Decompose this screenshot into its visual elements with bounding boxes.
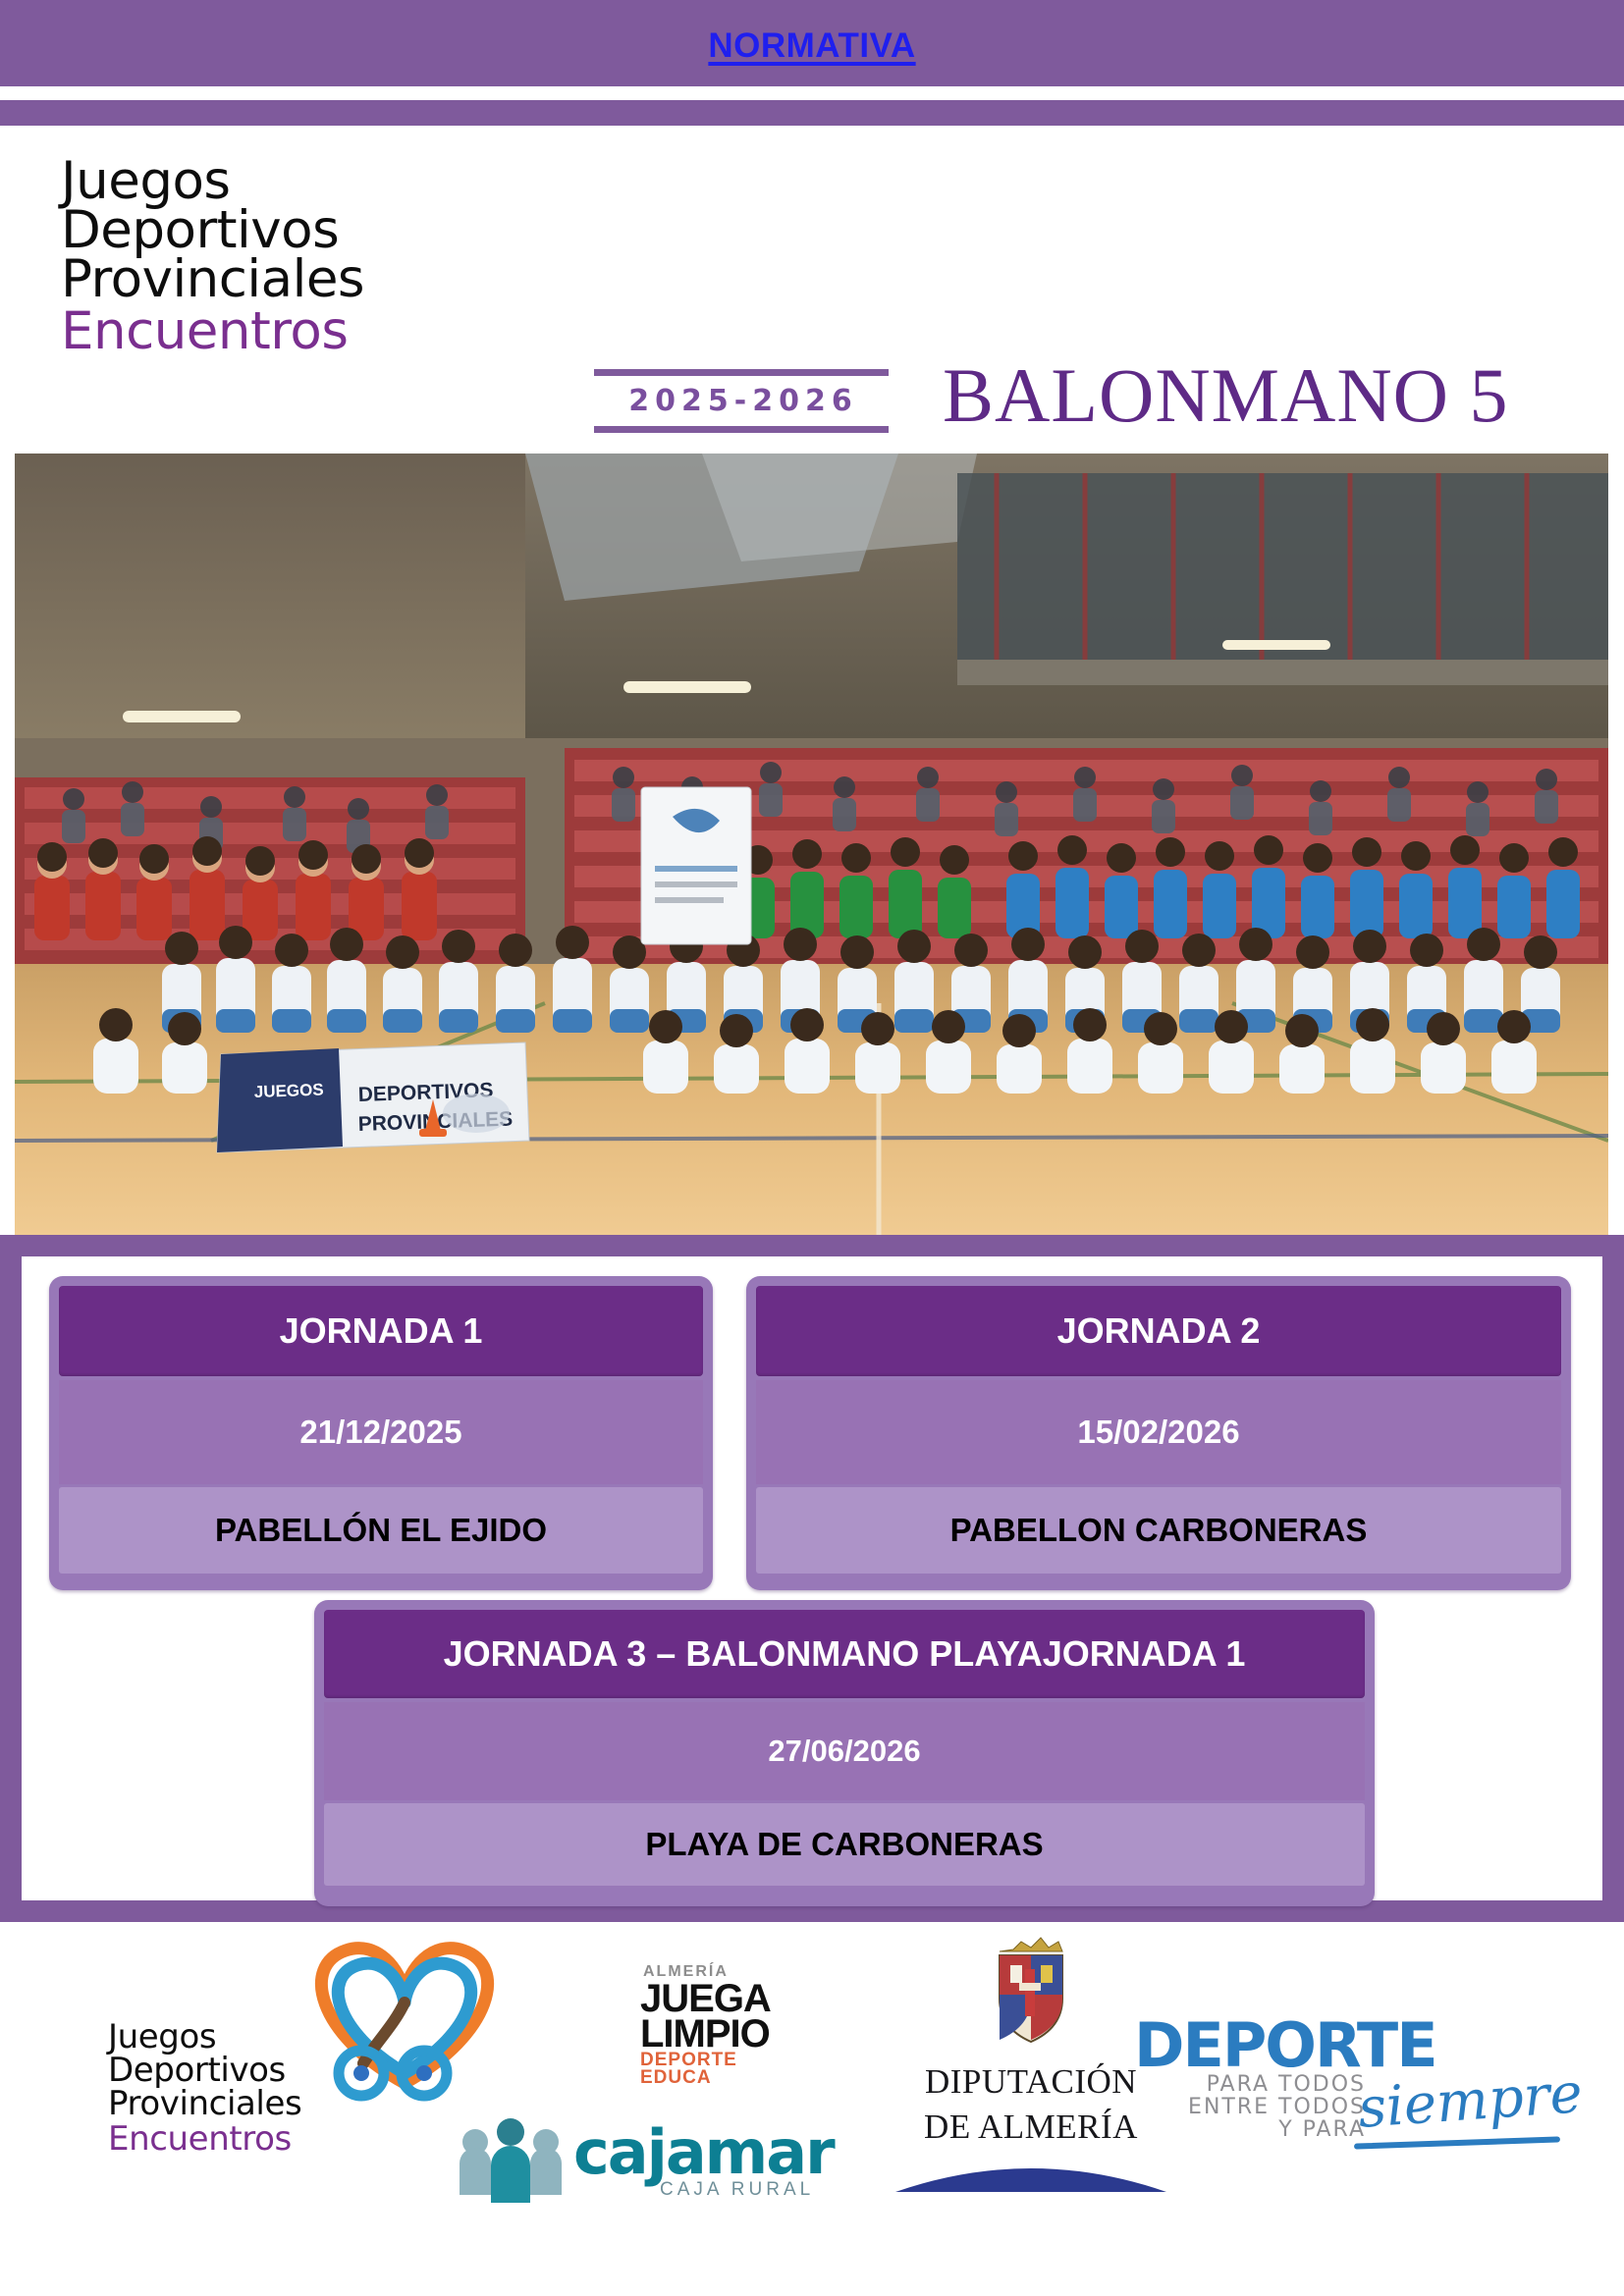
juega-limpio-sub2: EDUCA [640, 2069, 817, 2087]
season-rule-top [594, 369, 889, 376]
juega-limpio-heart-icon [257, 1926, 552, 2103]
normativa-link[interactable]: NORMATIVA [708, 27, 915, 66]
jornada-card-1[interactable]: JORNADA 1 21/12/2025 PABELLÓN EL EJIDO [49, 1276, 713, 1590]
jornada-3-venue: PLAYA DE CARBONERAS [324, 1803, 1365, 1886]
jornada-card-2[interactable]: JORNADA 2 15/02/2026 PABELLON CARBONERAS [746, 1276, 1571, 1590]
cajamar-subtitle: CAJA RURAL [660, 2179, 814, 2201]
juega-limpio-line2: LIMPIO [640, 2016, 817, 2052]
normativa-band: NORMATIVA [0, 6, 1624, 86]
jornada-card-3[interactable]: JORNADA 3 – BALONMANO PLAYAJORNADA 1 27/… [314, 1600, 1375, 1906]
poster-footer: Juegos Deportivos Provinciales Encuentro… [0, 1922, 1624, 2296]
jdp-logo: Juegos Deportivos Provinciales Encuentro… [61, 157, 483, 359]
deporte-big-text: DEPORTE [1134, 2018, 1527, 2073]
season-label: 2025-2026 [594, 376, 889, 426]
secondary-purple-band [0, 100, 1624, 126]
page-title: BALONMANO 5 [943, 357, 1509, 434]
season-rule-bottom [594, 426, 889, 433]
deporte-siempre-logo: DEPORTE PARA TODOS ENTRE TODOS Y PARA si… [1134, 2018, 1527, 2141]
juega-limpio-text: ALMERÍA JUEGA LIMPIO DEPORTE EDUCA [640, 1963, 817, 2087]
poster-header: Juegos Deportivos Provinciales Encuentro… [0, 126, 1624, 440]
jdp-logo-line3: Provinciales [61, 255, 483, 304]
jdp-logo-line1: Juegos [61, 157, 483, 206]
band-gap [0, 86, 1624, 100]
event-photo: JUEGOS DEPORTIVOS PROVINCIALES [15, 454, 1608, 1235]
juega-limpio-logo: ALMERÍA JUEGA LIMPIO DEPORTE EDUCA [257, 1926, 552, 2103]
jornada-2-title: JORNADA 2 [756, 1286, 1561, 1376]
deporte-small2: ENTRE TODOS [1134, 2096, 1366, 2118]
jdp-logo-line2: Deportivos [61, 206, 483, 255]
jornada-2-venue: PABELLON CARBONERAS [756, 1487, 1561, 1574]
jornada-1-date: 21/12/2025 [59, 1380, 703, 1484]
jornada-2-date: 15/02/2026 [756, 1380, 1561, 1484]
jornada-1-title: JORNADA 1 [59, 1286, 703, 1376]
footer-jdp-line4: Encuentros [108, 2120, 403, 2158]
jornada-3-title: JORNADA 3 – BALONMANO PLAYAJORNADA 1 [324, 1610, 1365, 1698]
cajamar-name: cajamar [573, 2116, 834, 2188]
deporte-small3: Y PARA [1134, 2118, 1366, 2141]
cajamar-people-icon [452, 2118, 569, 2207]
diputacion-arc-icon [874, 2151, 1188, 2194]
jornada-3-date: 27/06/2026 [324, 1702, 1365, 1800]
cajamar-logo: cajamar CAJA RURAL [452, 2118, 864, 2226]
season-badge: 2025-2026 [594, 369, 889, 433]
juega-limpio-line1: JUEGA [640, 1981, 817, 2016]
svg-text:JUEGOS: JUEGOS [253, 1081, 323, 1101]
jdp-logo-line4: Encuentros [61, 304, 483, 359]
jornada-1-venue: PABELLÓN EL EJIDO [59, 1487, 703, 1574]
